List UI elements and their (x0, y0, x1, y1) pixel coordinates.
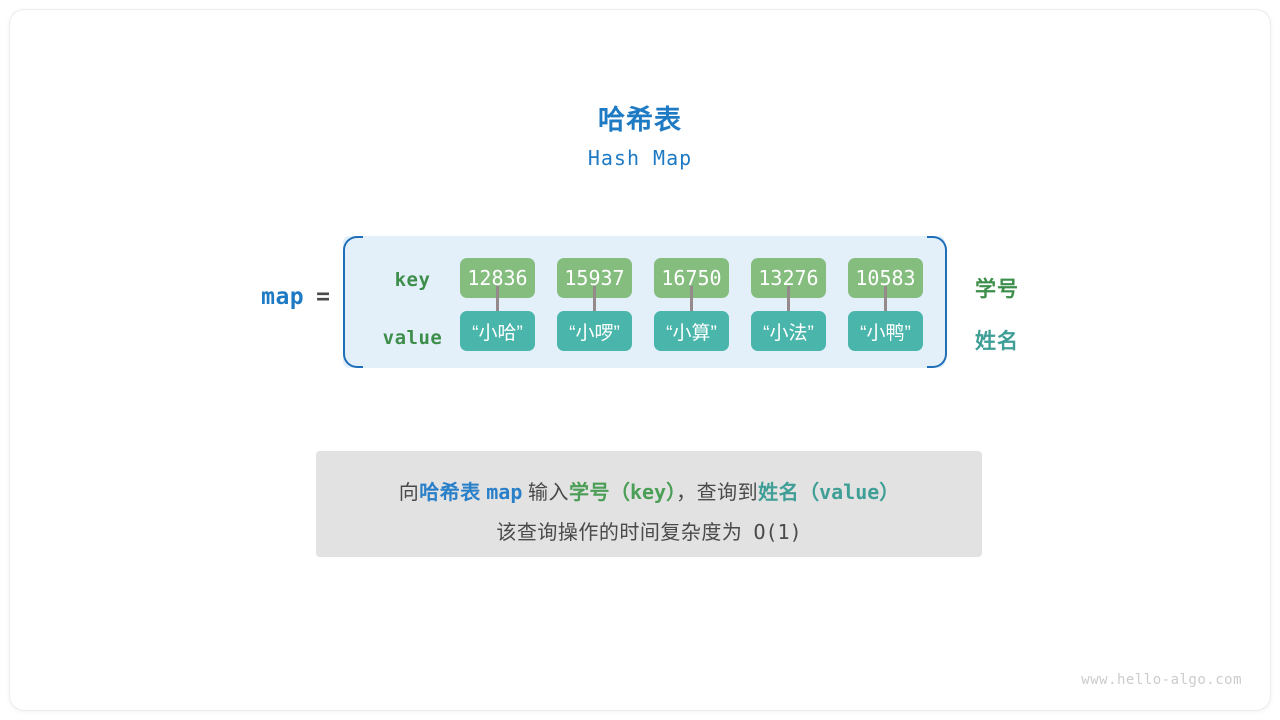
value-cell[interactable]: “小鸭” (848, 311, 923, 351)
map-variable-label: map= (210, 284, 330, 310)
side-label-name: 姓名 (975, 325, 1019, 355)
bracket-right-icon (927, 236, 947, 368)
side-label-student-id: 学号 (975, 273, 1019, 303)
bracket-left-icon (343, 236, 363, 368)
diagram-canvas: 哈希表 Hash Map map= key value 12836 “小哈” 1… (10, 10, 1270, 710)
caption-line-1: 向哈希表 map 输入学号（key），查询到姓名（value） (316, 476, 982, 505)
caption-text-complexity: 该查询操作的时间复杂度为 (496, 522, 742, 544)
caption-line-2: 该查询操作的时间复杂度为 O(1) (316, 516, 982, 545)
caption-text-name: 姓名 (758, 482, 799, 504)
caption-text-hashmap: 哈希表 (419, 482, 481, 504)
hash-map-container: key value 12836 “小哈” 15937 “小啰” 16750 “小… (335, 236, 945, 368)
map-variable-name: map (261, 284, 304, 310)
caption-text-key: （key） (610, 480, 676, 504)
caption-text-value: （value） (799, 480, 899, 504)
row-label-key: key (365, 269, 460, 291)
row-label-value: value (365, 327, 460, 349)
page-subtitle: Hash Map (10, 143, 1270, 173)
equals-sign: = (316, 284, 330, 310)
value-cell[interactable]: “小哈” (460, 311, 535, 351)
caption-text-studentid: 学号 (569, 482, 610, 504)
watermark: www.hello-algo.com (1081, 672, 1242, 688)
title-block: 哈希表 Hash Map (10, 103, 1270, 173)
value-cell[interactable]: “小算” (654, 311, 729, 351)
caption-text-to: 向 (399, 482, 420, 504)
value-cell[interactable]: “小法” (751, 311, 826, 351)
value-cell[interactable]: “小啰” (557, 311, 632, 351)
caption-text-query: ，查询到 (676, 482, 758, 504)
page-title: 哈希表 (10, 103, 1270, 137)
caption-text-map: map (486, 480, 522, 504)
caption-box: 向哈希表 map 输入学号（key），查询到姓名（value） 该查询操作的时间… (316, 451, 982, 557)
caption-text-input: 输入 (528, 482, 569, 504)
caption-text-bigo: O(1) (753, 520, 801, 544)
